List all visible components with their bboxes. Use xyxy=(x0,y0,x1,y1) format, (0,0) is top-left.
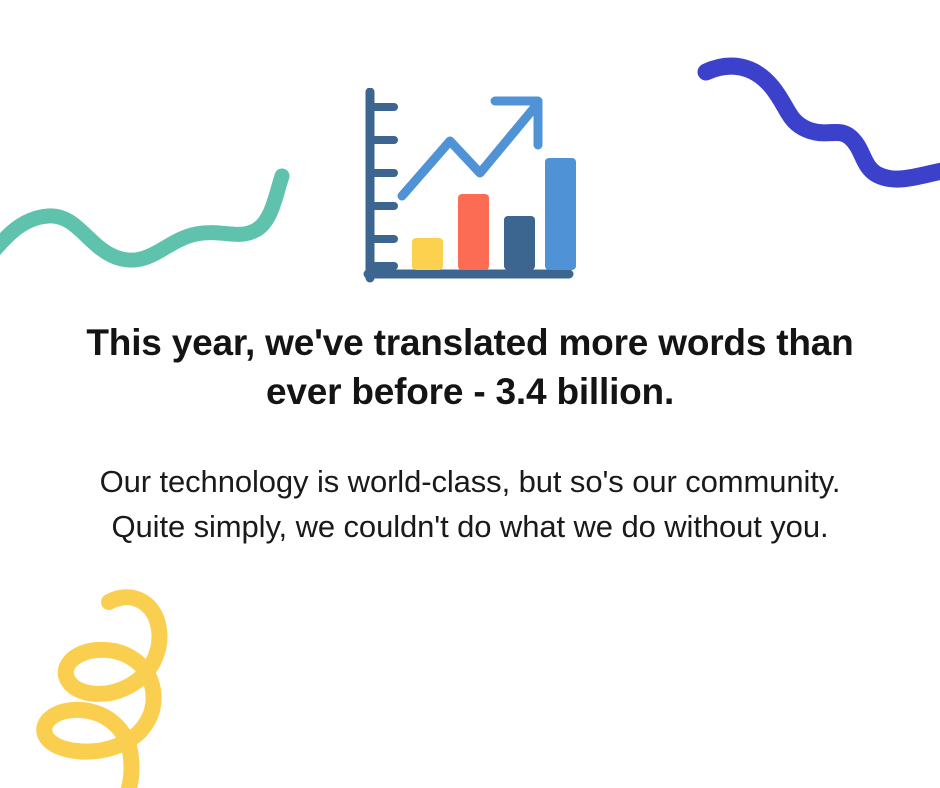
chart-bar-1 xyxy=(412,238,443,270)
chart-bar-3 xyxy=(504,216,535,270)
headline: This year, we've translated more words t… xyxy=(0,318,940,416)
chart-trend-line xyxy=(402,108,534,196)
text-block: This year, we've translated more words t… xyxy=(0,318,940,550)
chart-y-axis-ticks xyxy=(373,107,394,266)
chart-bar-4 xyxy=(545,158,576,270)
subcopy: Our technology is world-class, but so's … xyxy=(0,416,940,550)
slide-canvas: This year, we've translated more words t… xyxy=(0,0,940,788)
bar-chart-growth-icon xyxy=(362,88,577,288)
teal-squiggle-decoration xyxy=(0,110,300,270)
chart-bar-2 xyxy=(458,194,489,270)
blue-squiggle-decoration xyxy=(690,45,940,195)
yellow-spiral-decoration xyxy=(25,578,225,788)
